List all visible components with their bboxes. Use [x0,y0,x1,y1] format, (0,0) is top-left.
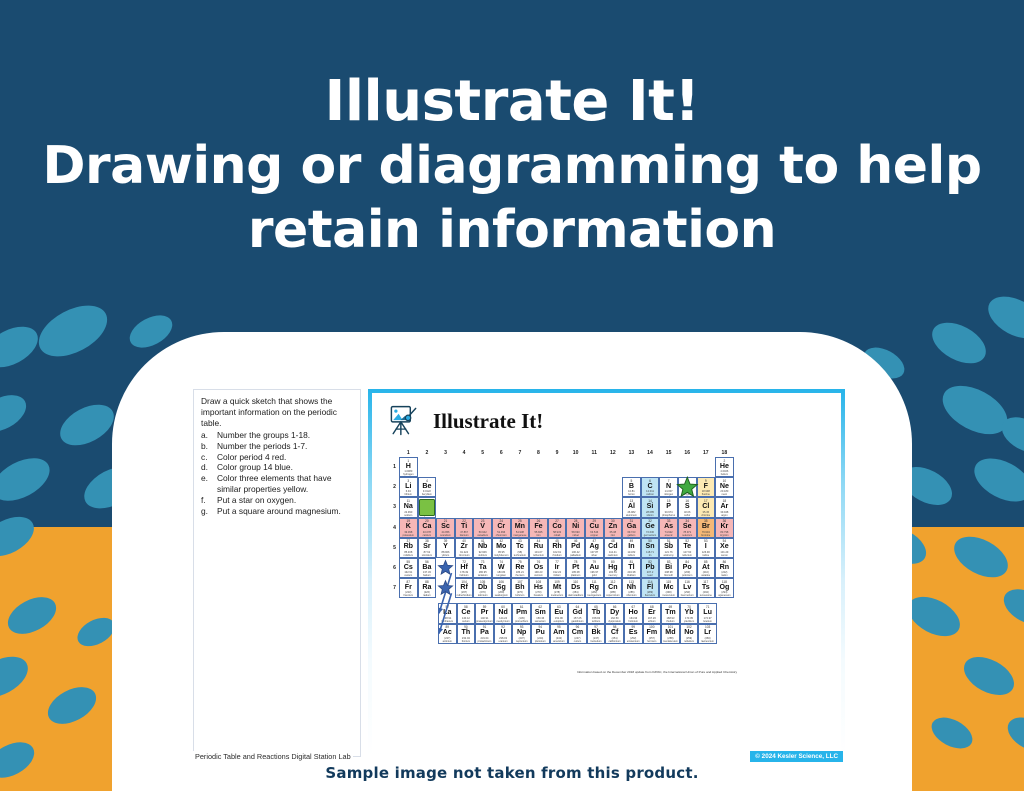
element-name: bismuth [660,574,677,577]
element-name: berkelium [588,640,605,643]
element-cell[interactable]: 43Tc(98)technetium [511,538,530,558]
element-name: californium [606,640,623,643]
document-page: Illustrate It! 1234567891011121314151617… [372,393,841,753]
element-name: roentgenium [586,594,603,597]
element-name: silver [586,554,603,557]
document-title: Illustrate It! [433,409,543,434]
empty-cell [473,457,492,477]
element-cell[interactable]: 73Ta180.95tantalum [473,558,492,578]
element-cell[interactable]: 86Rn(222)radon [715,558,734,578]
element-cell[interactable]: 111Rg(282)roentgenium [585,578,604,598]
element-name: nihonium [623,594,640,597]
element-symbol: Np [513,629,530,637]
element-cell[interactable]: 115Mc(290)moscovium [659,578,678,598]
periodic-table-row: 311Na22.990sodium12Mg24.305magnesium13Al… [390,497,734,517]
empty-cell [622,457,641,477]
element-name: tin [642,554,659,557]
element-name: flerovium [642,594,659,597]
group-number: 5 [473,449,492,457]
element-cell[interactable]: 52Te127.60tellurium [678,538,697,558]
element-cell[interactable]: 117Ts(294)tennessine [697,578,716,598]
element-cell[interactable]: 37Rb85.468rubidium [399,538,418,558]
element-cell[interactable]: 63Eu151.96europium [550,603,569,623]
element-name: curium [569,640,586,643]
element-symbol: Fe [530,523,547,531]
element-symbol: As [660,523,677,531]
element-cell[interactable]: 42Mo95.95molybdenum [492,538,511,558]
element-name: actinium [439,640,456,643]
element-symbol: Ti [456,523,473,531]
element-symbol: Si [642,503,659,511]
element-symbol: Nd [495,609,512,617]
empty-cell [548,457,567,477]
element-cell[interactable]: 107Bh(270)bohrium [511,578,530,598]
instruction-text: Color group 14 blue. [217,462,353,473]
instruction-item: e.Color three elements that have similar… [201,473,353,495]
empty-cell [492,457,511,477]
instruction-item: b.Number the periods 1-7. [201,441,353,452]
element-name: samarium [532,620,549,623]
element-cell[interactable]: 105Db(270)dubnium [473,578,492,598]
element-cell[interactable]: 44Ru101.07ruthenium [529,538,548,558]
element-cell[interactable]: 48Cd112.41cadmium [604,538,623,558]
group-number: 10 [566,449,585,457]
element-cell[interactable]: 36Kr83.798krypton [715,518,734,538]
instruction-marker: g. [201,506,217,517]
group-number: 12 [604,449,623,457]
empty-cell [604,497,623,517]
page-subtitle-line-1: Drawing or diagramming to help [0,134,1024,198]
element-name: platinum [567,574,584,577]
element-cell[interactable]: 24Cr51.996chromium [492,518,511,538]
element-name: calcium [419,534,436,537]
element-name: beryllium [419,493,436,496]
element-name: nickel [567,534,584,537]
sample-caption: Sample image not taken from this product… [0,764,1024,782]
element-cell[interactable]: 27Co58.933cobalt [548,518,567,538]
period-number: 5 [390,538,399,558]
element-cell[interactable]: 113Nh(286)nihonium [622,578,641,598]
element-name: phosphorus [660,514,677,517]
element-name: livermorium [679,594,696,597]
periodic-table-row: 11H1.0080hydrogen2He4.0026helium [390,457,734,477]
element-cell[interactable]: 109Mt(278)meitnerium [548,578,567,598]
element-cell[interactable]: 67Ho164.93holmium [624,603,643,623]
document-frame: Illustrate It! 1234567891011121314151617… [368,389,845,757]
periodic-table-row: 787Fr(223)francium88Ra(226)radium104Rf(2… [390,578,734,598]
element-cell[interactable]: 72Hf178.49hafnium [455,558,474,578]
element-cell[interactable]: 59Pr140.91praseodymium [475,603,494,623]
element-cell[interactable]: 106Sg(269)seaborgium [492,578,511,598]
element-cell[interactable]: 57La138.91lanthanum [438,603,457,623]
element-cell[interactable]: 95Am(243)americium [550,624,569,644]
empty-cell [678,457,697,477]
empty-cell [659,457,678,477]
element-cell[interactable]: 118Og(294)oganesson [715,578,734,598]
element-cell[interactable]: 92U238.03uranium [494,624,513,644]
element-symbol: Tm [662,609,679,617]
element-cell[interactable]: 93Np(237)neptunium [512,624,531,644]
element-symbol: Cm [569,629,586,637]
element-symbol: Cl [698,503,715,511]
element-cell[interactable]: 54Xe131.29xenon [715,538,734,558]
element-name: gallium [623,534,640,537]
element-cell[interactable]: 11Na22.990sodium [399,497,418,517]
element-cell[interactable]: 46Pd106.42palladium [566,538,585,558]
element-cell[interactable]: 4Be9.0122beryllium [418,477,437,497]
element-name: boron [623,493,640,496]
element-name: cerium [458,620,475,623]
group-number: 9 [548,449,567,457]
element-name: osmium [530,574,547,577]
element-name: barium [419,574,436,577]
element-cell[interactable]: 50Sn118.71tin [641,538,660,558]
element-symbol: Y [437,543,454,551]
element-symbol: Re [512,564,529,572]
element-cell[interactable]: 83Bi208.98bismuth [659,558,678,578]
element-symbol: Sm [532,609,549,617]
element-symbol: Dy [606,609,623,617]
element-cell[interactable]: 94Pu(244)plutonium [531,624,550,644]
element-symbol: Md [662,629,679,637]
element-cell[interactable]: 87Fr(223)francium [399,578,418,598]
element-cell[interactable]: 18Ar39.948argon [715,497,734,517]
period-number: 2 [390,477,399,497]
element-name: tennessine [698,594,715,597]
instruction-item: a.Number the groups 1-18. [201,430,353,441]
document-header: Illustrate It! [386,403,543,439]
grid-corner [390,449,399,457]
element-symbol: Rb [400,543,417,551]
element-cell[interactable]: 47Ag107.87silver [585,538,604,558]
element-symbol: Cd [605,543,622,551]
slide-footer-copyright: © 2024 Kesler Science, LLC [750,751,843,762]
element-name: sodium [400,514,417,517]
element-cell[interactable]: 3Li6.94lithium [399,477,418,497]
element-symbol: Ir [549,564,566,572]
element-cell[interactable]: 88Ra(226)radium [418,578,437,598]
group-number: 1 [399,449,418,457]
periodic-table-f-block: 57La138.91lanthanum58Ce140.12cerium59Pr1… [390,603,830,643]
element-cell[interactable]: 66Dy162.50dysprosium [605,603,624,623]
element-name: oganesson [716,594,733,597]
element-cell[interactable]: 60Nd144.24neodymium [494,603,513,623]
element-cell[interactable]: 13Al26.982aluminum [622,497,641,517]
element-symbol: Yb [681,609,698,617]
element-name: praseodymium [476,620,493,623]
element-cell[interactable]: 69Tm168.93thulium [661,603,680,623]
element-cell[interactable]: 2He4.0026helium [715,457,734,477]
element-name: scandium [437,534,454,537]
period-number: 7 [390,578,399,598]
element-cell[interactable]: 5B10.81boron [622,477,641,497]
element-symbol: Ag [586,543,603,551]
element-name: nobelium [681,640,698,643]
element-name: argon [716,514,733,517]
element-symbol: Br [698,523,715,531]
periodic-table: 12345678910111213141516171811H1.0080hydr… [390,449,830,644]
element-name: mendelevium [662,640,679,643]
element-symbol: Xe [716,543,733,551]
element-symbol: Zr [456,543,473,551]
instruction-text: Number the periods 1-7. [217,441,353,452]
element-name: iron [530,534,547,537]
empty-cell [511,477,530,497]
element-cell[interactable]: 100Fm(257)fermium [643,624,662,644]
element-cell[interactable]: 9F18.998fluorine [697,477,716,497]
element-name: plutonium [532,640,549,643]
element-symbol: Sr [419,543,436,551]
page-subtitle-line-2: retain information [0,198,1024,262]
element-cell[interactable]: 62Sm150.36samarium [531,603,550,623]
instruction-text: Color period 4 red. [217,452,353,463]
group-number: 3 [436,449,455,457]
element-symbol: U [495,629,512,637]
element-name: cadmium [605,554,622,557]
element-name: americium [551,640,568,643]
element-name: copernicium [605,594,622,597]
element-name: meitnerium [549,594,566,597]
element-cell[interactable]: 61Pm(145)promethium [512,603,531,623]
element-name: gadolinium [569,620,586,623]
empty-cell [529,497,548,517]
element-name: cobalt [549,534,566,537]
element-symbol: Sb [660,543,677,551]
element-symbol: Mo [493,543,510,551]
element-name: terbium [588,620,605,623]
element-symbol: Ac [439,629,456,637]
element-name: chlorine [698,514,715,517]
element-name: radon [716,574,733,577]
element-symbol: Hf [456,564,473,572]
element-cell[interactable]: 98Cf(251)californium [605,624,624,644]
element-name: einsteinium [625,640,642,643]
element-name: rhenium [512,574,529,577]
element-cell[interactable]: 68Er167.26erbium [643,603,662,623]
element-cell[interactable]: 76Os190.23osmium [529,558,548,578]
element-cell[interactable]: 65Tb158.93terbium [587,603,606,623]
element-name: rhodium [549,554,566,557]
empty-cell [492,477,511,497]
element-cell[interactable]: 41Nb92.906niobium [473,538,492,558]
empty-cell [418,457,437,477]
empty-cell [548,497,567,517]
periodic-table-row: 419K39.098potassium20Ca40.078calcium21Sc… [390,518,734,538]
period-number: 1 [390,457,399,477]
element-symbol: Se [679,523,696,531]
instruction-marker: c. [201,452,217,463]
element-name: aluminum [623,514,640,517]
empty-cell [455,477,474,497]
element-name: lead [642,574,659,577]
element-name: molybdenum [493,554,510,557]
element-name: silicon [642,514,659,517]
element-symbol: Mn [512,523,529,531]
element-symbol: In [623,543,640,551]
element-cell[interactable]: 26Fe55.845iron [529,518,548,538]
element-cell[interactable]: 103Lr(266)lawrencium [698,624,717,644]
element-name: thallium [623,574,640,577]
element-cell[interactable]: 71Lu174.97lutetium [698,603,717,623]
element-symbol: Po [679,564,696,572]
element-cell[interactable]: 70Yb173.05ytterbium [680,603,699,623]
element-cell[interactable]: 75Re186.21rhenium [511,558,530,578]
element-symbol: Lu [699,609,716,617]
instruction-text: Put a square around magnesium. [217,506,353,517]
element-cell[interactable]: 74W183.84tungsten [492,558,511,578]
element-name: bromine [698,534,715,537]
element-name: chromium [493,534,510,537]
element-cell[interactable]: 85At(210)astatine [697,558,716,578]
element-cell[interactable]: 49In114.82indium [622,538,641,558]
element-name: darmstadtium [567,594,584,597]
element-cell[interactable]: 19K39.098potassium [399,518,418,538]
element-name: neptunium [513,640,530,643]
element-cell[interactable]: 91Pa231.04protactinium [475,624,494,644]
element-cell[interactable]: 51Sb121.76antimony [659,538,678,558]
element-cell[interactable]: 104Rf(267)rutherfordium [455,578,474,598]
element-symbol: Pu [532,629,549,637]
element-name: rubidium [400,554,417,557]
element-cell[interactable]: 58Ce140.12cerium [457,603,476,623]
element-cell[interactable]: 78Pt195.08platinum [566,558,585,578]
lanthanide-row: 57La138.91lanthanum58Ce140.12cerium59Pr1… [438,603,717,623]
element-cell[interactable]: 32Ge72.630germanium [641,518,660,538]
slide-footer-left: Periodic Table and Reactions Digital Sta… [193,751,353,762]
element-cell[interactable]: 81Tl204.38thallium [622,558,641,578]
element-symbol: No [681,629,698,637]
element-name: copper [586,534,603,537]
element-cell[interactable]: 30Zn65.38zinc [604,518,623,538]
element-name: indium [623,554,640,557]
element-cell[interactable]: 82Pb207.2lead [641,558,660,578]
element-cell[interactable]: 10Ne20.180neon [715,477,734,497]
element-name: niobium [474,554,491,557]
element-cell[interactable]: 97Bk(247)berkelium [587,624,606,644]
element-symbol: Ge [642,523,659,531]
element-name: astatine [698,574,715,577]
element-cell[interactable]: 29Cu63.546copper [585,518,604,538]
actinide-row: 89Ac(227)actinium90Th232.04thorium91Pa23… [438,624,717,644]
empty-cell [529,477,548,497]
element-cell[interactable]: 39Y88.906yttrium [436,538,455,558]
title-block: Illustrate It! Drawing or diagramming to… [0,70,1024,262]
instruction-marker: a. [201,430,217,441]
element-name: francium [400,594,417,597]
element-cell[interactable]: 16S32.06sulfur [678,497,697,517]
f-block-table: 57La138.91lanthanum58Ce140.12cerium59Pr1… [438,603,717,643]
element-cell[interactable]: 15P30.974phosphorus [659,497,678,517]
element-symbol: Cf [606,629,623,637]
element-name: potassium [400,534,417,537]
element-cell[interactable]: 33As74.922arsenic [659,518,678,538]
empty-cell [697,457,716,477]
element-cell[interactable]: 84Po(209)polonium [678,558,697,578]
element-name: promethium [513,620,530,623]
group-number: 18 [715,449,734,457]
group-number: 14 [641,449,660,457]
element-cell[interactable]: 23V50.942vanadium [473,518,492,538]
element-symbol: Lr [699,629,716,637]
element-cell[interactable]: 1H1.0080hydrogen [399,457,418,477]
periodic-table-row: 655Cs132.91cesium56Ba137.33barium72Hf178… [390,558,734,578]
element-name: ruthenium [530,554,547,557]
element-cell[interactable]: 108Hs(270)hassium [529,578,548,598]
element-cell[interactable]: 116Lv(293)livermorium [678,578,697,598]
element-cell[interactable]: 96Cm(247)curium [568,624,587,644]
element-cell[interactable]: 102No(259)nobelium [680,624,699,644]
element-cell[interactable]: 89Ac(227)actinium [438,624,457,644]
element-symbol: Pr [476,609,493,617]
empty-cell [511,497,530,517]
element-cell[interactable]: 17Cl35.45chlorine [697,497,716,517]
element-symbol: Ru [530,543,547,551]
group-number: 15 [659,449,678,457]
element-cell[interactable]: 21Sc44.956scandium [436,518,455,538]
element-symbol: Pa [476,629,493,637]
element-cell[interactable]: 38Sr87.62strontium [418,538,437,558]
element-cell[interactable]: 99Es(252)einsteinium [624,624,643,644]
element-name: dubnium [474,594,491,597]
element-name: arsenic [660,534,677,537]
element-cell[interactable]: 25Mn54.938manganese [511,518,530,538]
empty-cell [473,477,492,497]
element-cell[interactable]: 53I126.90iodine [697,538,716,558]
element-cell[interactable]: 22Ti47.867titanium [455,518,474,538]
element-cell[interactable]: 114Fl(289)flerovium [641,578,660,598]
element-cell[interactable]: 34Se78.971selenium [678,518,697,538]
element-name: zinc [605,534,622,537]
element-cell[interactable]: 90Th232.04thorium [457,624,476,644]
element-name: vanadium [474,534,491,537]
element-name: ytterbium [681,620,698,623]
element-symbol: Rh [549,543,566,551]
element-name: neon [716,493,733,496]
element-symbol: Th [458,629,475,637]
element-cell[interactable]: 79Au196.97gold [585,558,604,578]
element-symbol: Pb [642,564,659,572]
element-cell[interactable]: 35Br79.904bromine [697,518,716,538]
element-cell[interactable]: 6C12.011carbon [641,477,660,497]
element-symbol: Ta [474,564,491,572]
group-header-row: 123456789101112131415161718 [390,449,734,457]
element-symbol: Tl [623,564,640,572]
instruction-item: d.Color group 14 blue. [201,462,353,473]
empty-cell [641,457,660,477]
element-cell[interactable]: 101Md(258)mendelevium [661,624,680,644]
element-cell[interactable]: 20Ca40.078calcium [418,518,437,538]
element-cell[interactable]: 112Cn(285)copernicium [604,578,623,598]
element-cell[interactable]: 28Ni58.693nickel [566,518,585,538]
element-cell[interactable]: 77Ir192.22iridium [548,558,567,578]
element-cell[interactable]: 56Ba137.33barium [418,558,437,578]
element-symbol: Ni [567,523,584,531]
element-cell[interactable]: 110Ds(281)darmstadtium [566,578,585,598]
element-cell[interactable]: 45Rh102.91rhodium [548,538,567,558]
element-cell[interactable]: 14Si28.085silicon [641,497,660,517]
element-symbol: Ba [419,564,436,572]
element-cell[interactable]: 55Cs132.91cesium [399,558,418,578]
element-cell[interactable]: 31Ga69.723gallium [622,518,641,538]
element-cell[interactable]: 80Hg200.59mercury [604,558,623,578]
group-number: 8 [529,449,548,457]
empty-cell [604,477,623,497]
instruction-marker: e. [201,473,217,495]
element-cell[interactable]: 64Gd157.25gadolinium [568,603,587,623]
instruction-marker: d. [201,462,217,473]
element-cell[interactable]: 40Zr91.224zirconium [455,538,474,558]
element-symbol: Ar [716,503,733,511]
